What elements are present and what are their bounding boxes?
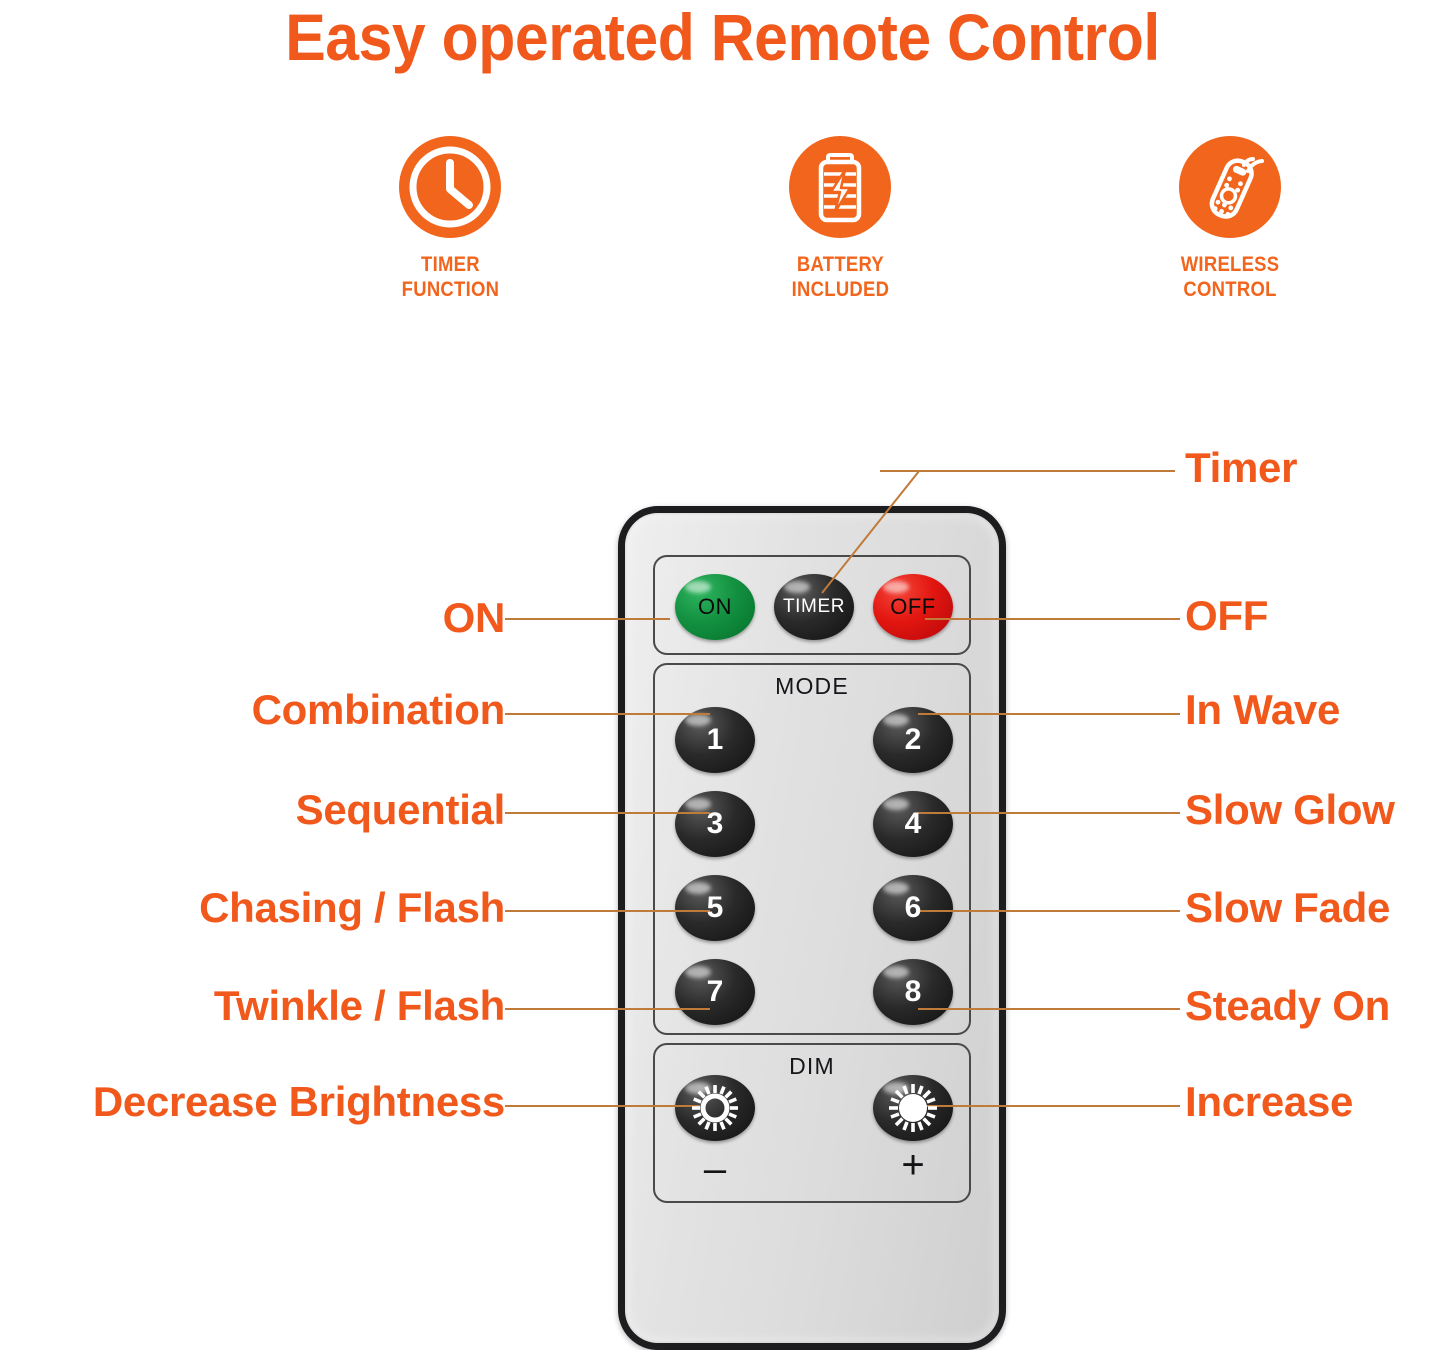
- power-panel: ON TIMER OFF: [653, 555, 971, 655]
- mode-7-button[interactable]: 7: [675, 959, 755, 1025]
- feature-timer-label: TIMER FUNCTION: [401, 252, 499, 302]
- timer-button[interactable]: TIMER: [774, 574, 854, 640]
- mode-panel-title: MODE: [655, 673, 969, 700]
- timer-button-label: TIMER: [783, 596, 845, 618]
- callout-on: ON: [443, 596, 505, 640]
- off-button[interactable]: OFF: [873, 574, 953, 640]
- mode-5-label: 5: [707, 891, 724, 925]
- callout-off: OFF: [1185, 594, 1268, 638]
- dim-minus-sign: –: [675, 1149, 755, 1189]
- feature-battery-included: BATTERY INCLUDED: [690, 136, 990, 302]
- dim-panel: DIM: [653, 1043, 971, 1203]
- leader-slow-fade: [918, 910, 1180, 912]
- dim-down-button[interactable]: [675, 1075, 755, 1141]
- feature-wireless-line1: WIRELESS: [1181, 252, 1280, 277]
- feature-wireless-line2: CONTROL: [1181, 277, 1280, 302]
- leader-on: [505, 618, 670, 620]
- feature-battery-label: BATTERY INCLUDED: [791, 252, 889, 302]
- clock-icon: [399, 136, 501, 238]
- callout-increase: Increase: [1185, 1080, 1353, 1124]
- leader-timer-horizontal: [880, 470, 1175, 472]
- leader-slow-glow: [918, 812, 1180, 814]
- remote-icon: [1179, 136, 1281, 238]
- callout-timer: Timer: [1185, 446, 1297, 490]
- mode-panel: MODE 1 2 3 4 5 6 7 8: [653, 663, 971, 1035]
- leader-off: [925, 618, 1180, 620]
- mode-3-label: 3: [707, 807, 724, 841]
- callout-combination: Combination: [252, 688, 505, 732]
- mode-8-button[interactable]: 8: [873, 959, 953, 1025]
- button-glint: [883, 581, 909, 593]
- leader-twinkle: [505, 1008, 710, 1010]
- callout-steady-on: Steady On: [1185, 984, 1390, 1028]
- feature-wireless-control: WIRELESS CONTROL: [1080, 136, 1380, 302]
- mode-6-label: 6: [905, 891, 922, 925]
- leader-sequential: [505, 812, 710, 814]
- callout-decrease-brightness: Decrease Brightness: [93, 1080, 505, 1124]
- mode-8-label: 8: [905, 975, 922, 1009]
- callout-twinkle-flash: Twinkle / Flash: [214, 984, 505, 1028]
- feature-wireless-label: WIRELESS CONTROL: [1181, 252, 1280, 302]
- mode-4-label: 4: [905, 807, 922, 841]
- dim-plus-sign: +: [873, 1145, 953, 1185]
- mode-7-label: 7: [707, 975, 724, 1009]
- mode-3-button[interactable]: 3: [675, 791, 755, 857]
- off-button-label: OFF: [890, 594, 936, 620]
- feature-timer-line2: FUNCTION: [401, 277, 499, 302]
- leader-decrease: [505, 1105, 700, 1107]
- leader-increase: [918, 1105, 1180, 1107]
- leader-chasing: [505, 910, 710, 912]
- callout-slow-glow: Slow Glow: [1185, 788, 1395, 832]
- callout-in-wave: In Wave: [1185, 688, 1340, 732]
- battery-icon: [789, 136, 891, 238]
- brightness-low-icon: [687, 1080, 743, 1136]
- leader-in-wave: [918, 713, 1180, 715]
- mode-1-button[interactable]: 1: [675, 707, 755, 773]
- leader-steady-on: [918, 1008, 1180, 1010]
- button-glint: [685, 581, 711, 593]
- on-button[interactable]: ON: [675, 574, 755, 640]
- mode-1-label: 1: [707, 723, 724, 757]
- feature-timer-function: TIMER FUNCTION: [300, 136, 600, 302]
- callout-sequential: Sequential: [296, 788, 505, 832]
- feature-battery-line1: BATTERY: [791, 252, 889, 277]
- remote-control-device: ON TIMER OFF MODE 1 2 3 4: [618, 506, 1006, 1350]
- mode-6-button[interactable]: 6: [873, 875, 953, 941]
- mode-4-button[interactable]: 4: [873, 791, 953, 857]
- page-title: Easy operated Remote Control: [58, 0, 1387, 76]
- mode-2-label: 2: [905, 723, 922, 757]
- feature-highlights: TIMER FUNCTION BATTERY INCLUDED: [300, 136, 1380, 302]
- brightness-high-icon: [885, 1080, 941, 1136]
- dim-up-button[interactable]: [873, 1075, 953, 1141]
- mode-2-button[interactable]: 2: [873, 707, 953, 773]
- feature-battery-line2: INCLUDED: [791, 277, 889, 302]
- mode-5-button[interactable]: 5: [675, 875, 755, 941]
- button-glint: [784, 581, 810, 593]
- leader-combination: [505, 713, 710, 715]
- callout-chasing-flash: Chasing / Flash: [199, 886, 505, 930]
- callout-slow-fade: Slow Fade: [1185, 886, 1390, 930]
- feature-timer-line1: TIMER: [401, 252, 499, 277]
- on-button-label: ON: [698, 594, 732, 620]
